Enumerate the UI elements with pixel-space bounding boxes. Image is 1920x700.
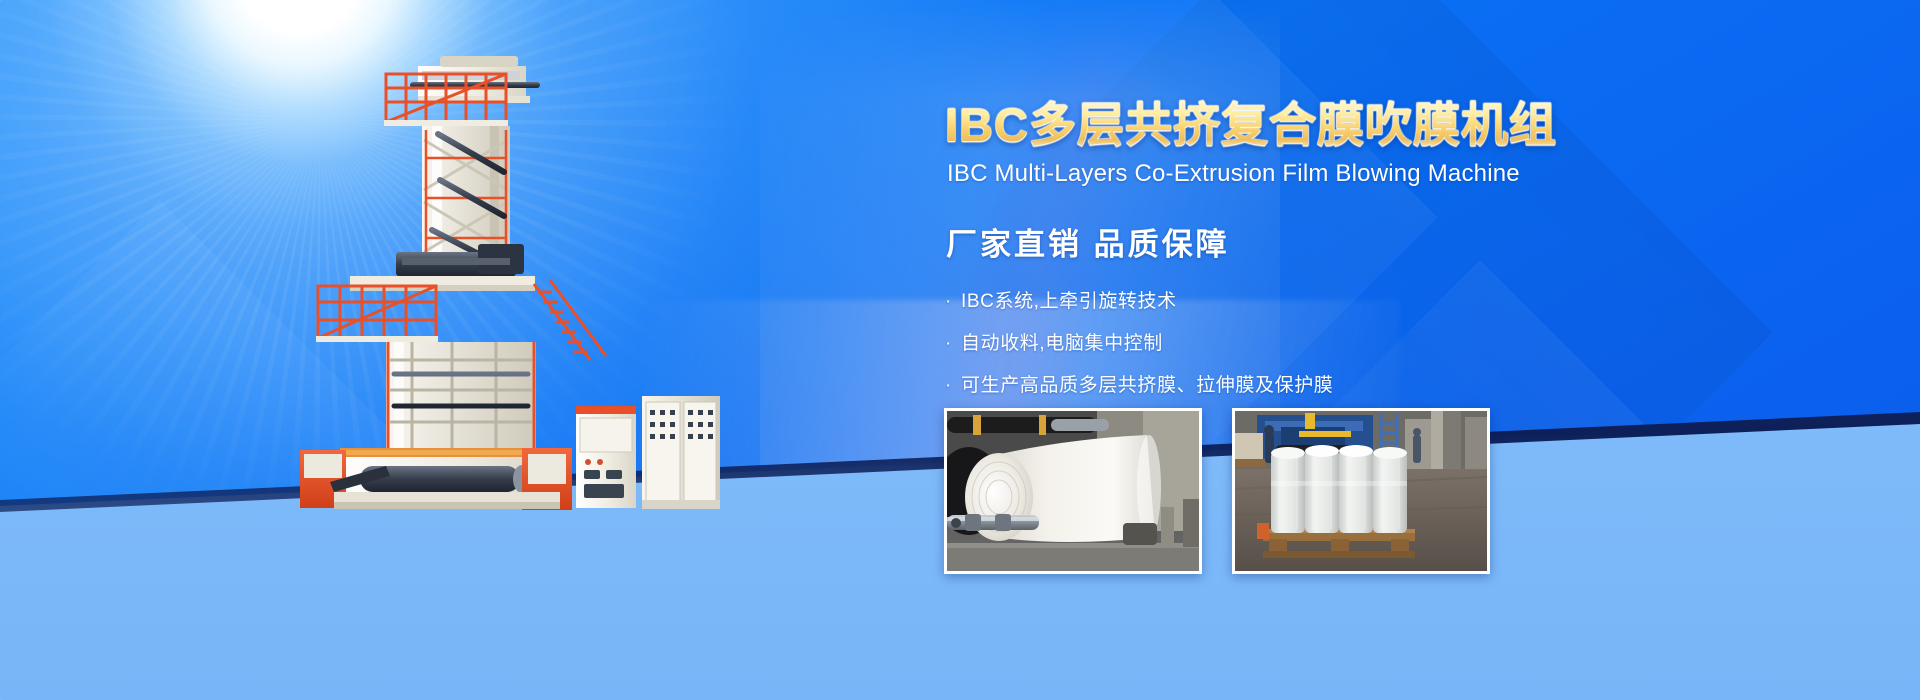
- bullet-dot-icon: ·: [945, 376, 961, 395]
- film-blowing-machine-illustration: [290, 30, 730, 510]
- page-title: IBC多层共挤复合膜吹膜机组: [945, 100, 1665, 151]
- list-item-label: 可生产高品质多层共挤膜、拉伸膜及保护膜: [961, 370, 1333, 397]
- film-roll-on-winder-photo[interactable]: [944, 408, 1202, 574]
- list-item-label: 自动收料,电脑集中控制: [961, 328, 1163, 355]
- page-subtitle-english: IBC Multi-Layers Co-Extrusion Film Blowi…: [947, 160, 1665, 188]
- list-item: · IBC系统,上牵引旋转技术: [945, 286, 1665, 313]
- list-item: · 可生产高品质多层共挤膜、拉伸膜及保护膜: [945, 370, 1665, 397]
- bullet-dot-icon: ·: [945, 292, 961, 311]
- bullet-dot-icon: ·: [945, 334, 961, 353]
- banner-text-content: IBC多层共挤复合膜吹膜机组 IBC Multi-Layers Co-Extru…: [945, 100, 1665, 412]
- product-hero-banner: IBC多层共挤复合膜吹膜机组 IBC Multi-Layers Co-Extru…: [0, 0, 1920, 700]
- product-photo-gallery: [944, 408, 1490, 574]
- feature-list: · IBC系统,上牵引旋转技术 · 自动收料,电脑集中控制 · 可生产高品质多层…: [945, 286, 1665, 397]
- list-item-label: IBC系统,上牵引旋转技术: [961, 286, 1177, 313]
- tagline: 厂家直销 品质保障: [946, 219, 1665, 264]
- list-item: · 自动收料,电脑集中控制: [945, 328, 1665, 355]
- stretch-film-rolls-on-pallet-photo[interactable]: [1232, 408, 1490, 574]
